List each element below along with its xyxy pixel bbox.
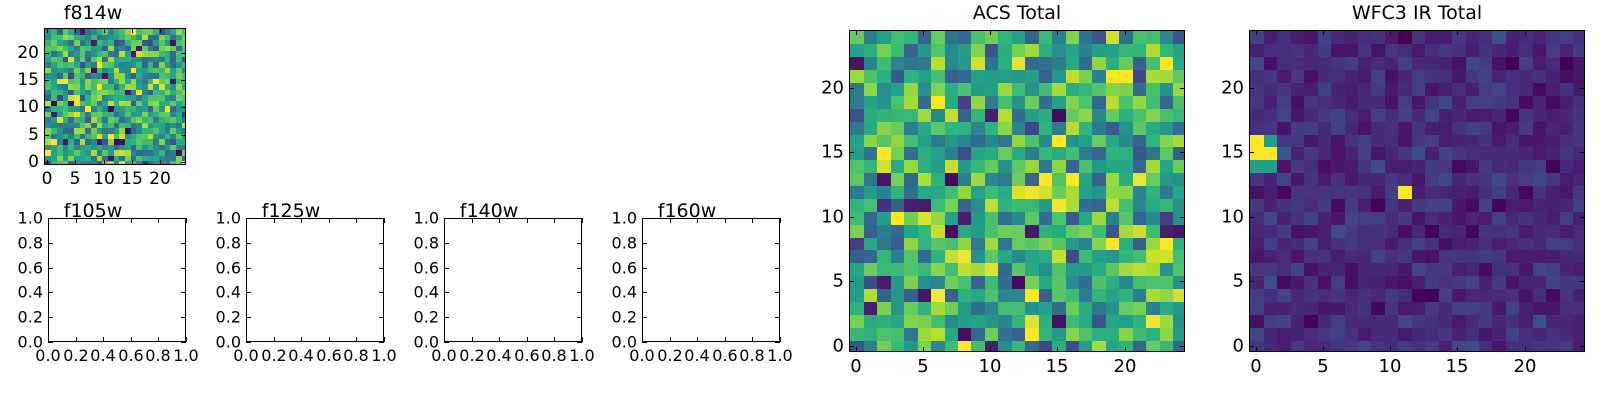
xtick-top-f814w-0: [47, 28, 48, 33]
xtick-f160w-4: [752, 337, 753, 342]
ytick-right-f140w-2: [577, 292, 582, 293]
xtick-top-f140w-5: [582, 218, 583, 223]
ytick-right-wfc3-1: [1580, 281, 1585, 282]
yticklabel-wfc3-1: 5: [1204, 271, 1244, 292]
yticklabel-acs-1: 5: [804, 271, 844, 292]
yticklabel-f160w-2: 0.4: [595, 283, 637, 302]
ytick-acs-3: [849, 152, 854, 153]
yticklabel-f105w-5: 1.0: [1, 209, 43, 228]
ytick-f814w-3: [44, 80, 49, 81]
xtick-f160w-3: [725, 337, 726, 342]
yticklabel-f140w-0: 0.0: [397, 333, 439, 352]
xtick-f140w-4: [554, 337, 555, 342]
axes-f814w[interactable]: [44, 28, 186, 165]
ytick-f160w-5: [642, 218, 647, 219]
xticklabel-f814w-0: 0: [42, 169, 53, 189]
yticklabel-wfc3-2: 10: [1204, 207, 1244, 228]
ytick-right-f814w-1: [181, 135, 186, 136]
ytick-right-f814w-2: [181, 107, 186, 108]
ytick-right-acs-3: [1180, 152, 1185, 153]
axes-wfc3-ir-total[interactable]: [1249, 30, 1585, 352]
yticklabel-f125w-3: 0.6: [199, 259, 241, 278]
ytick-f125w-3: [246, 268, 251, 269]
xtick-top-f160w-5: [780, 218, 781, 223]
ytick-f125w-2: [246, 292, 251, 293]
ytick-right-f160w-5: [775, 218, 780, 219]
xtick-top-acs-1: [923, 30, 924, 35]
ytick-right-f125w-1: [379, 317, 384, 318]
ytick-acs-0: [849, 346, 854, 347]
yticklabel-f814w-0: 0: [1, 152, 39, 172]
ytick-f160w-3: [642, 268, 647, 269]
ytick-right-f160w-3: [775, 268, 780, 269]
ytick-f140w-2: [444, 292, 449, 293]
xtick-top-f160w-3: [725, 218, 726, 223]
xtick-f105w-3: [131, 337, 132, 342]
yticklabel-f140w-5: 1.0: [397, 209, 439, 228]
xtick-top-f140w-2: [499, 218, 500, 223]
xticklabel-wfc3-0: 0: [1250, 356, 1261, 377]
yticklabel-f814w-1: 5: [1, 125, 39, 145]
xtick-top-wfc3-0: [1256, 30, 1257, 35]
xticklabel-wfc3-4: 20: [1514, 356, 1537, 377]
ytick-right-f140w-5: [577, 218, 582, 219]
yticklabel-f814w-4: 20: [1, 43, 39, 63]
panel-title-wfc3-ir-total: WFC3 IR Total: [1249, 2, 1585, 24]
xticklabel-f105w-3: 0.6: [118, 346, 143, 365]
yticklabel-f140w-3: 0.6: [397, 259, 439, 278]
xtick-top-wfc3-3: [1457, 30, 1458, 35]
ytick-f814w-2: [44, 107, 49, 108]
ytick-f105w-4: [48, 243, 53, 244]
ytick-f160w-2: [642, 292, 647, 293]
xtick-f814w-1: [75, 160, 76, 165]
yticklabel-f125w-2: 0.4: [199, 283, 241, 302]
yticklabel-f140w-2: 0.4: [397, 283, 439, 302]
xticklabel-f105w-2: 0.4: [90, 346, 115, 365]
xticklabel-wfc3-3: 15: [1446, 356, 1469, 377]
ytick-right-f125w-5: [379, 218, 384, 219]
xtick-top-acs-2: [990, 30, 991, 35]
axes-f160w[interactable]: [642, 218, 780, 342]
xtick-acs-1: [923, 347, 924, 352]
ytick-f140w-0: [444, 342, 449, 343]
xticklabel-f814w-2: 10: [93, 169, 115, 189]
ytick-right-acs-4: [1180, 88, 1185, 89]
xtick-top-f160w-4: [752, 218, 753, 223]
ytick-right-f105w-3: [181, 268, 186, 269]
xticklabel-acs-3: 15: [1046, 356, 1069, 377]
xticklabel-wfc3-1: 5: [1317, 356, 1328, 377]
ytick-f140w-3: [444, 268, 449, 269]
yticklabel-acs-2: 10: [804, 207, 844, 228]
ytick-right-acs-2: [1180, 217, 1185, 218]
xtick-top-f140w-4: [554, 218, 555, 223]
yticklabel-acs-3: 15: [804, 142, 844, 163]
heatmap-image-wfc3-ir-total: [1250, 31, 1585, 352]
xtick-f125w-5: [384, 337, 385, 342]
yticklabel-acs-4: 20: [804, 78, 844, 99]
xtick-top-f105w-4: [158, 218, 159, 223]
ytick-right-f140w-4: [577, 243, 582, 244]
xtick-top-f105w-3: [131, 218, 132, 223]
yticklabel-f105w-4: 0.8: [1, 234, 43, 253]
xtick-top-wfc3-4: [1525, 30, 1526, 35]
xticklabel-acs-0: 0: [850, 356, 861, 377]
xticklabel-f160w-2: 0.4: [684, 346, 709, 365]
xticklabel-f125w-1: 0.2: [261, 346, 286, 365]
xtick-f125w-4: [356, 337, 357, 342]
xtick-f140w-2: [499, 337, 500, 342]
yticklabel-f105w-1: 0.2: [1, 308, 43, 327]
xticklabel-acs-2: 10: [979, 356, 1002, 377]
yticklabel-f125w-5: 1.0: [199, 209, 241, 228]
yticklabel-f105w-0: 0.0: [1, 333, 43, 352]
xtick-acs-2: [990, 347, 991, 352]
ytick-wfc3-2: [1249, 217, 1254, 218]
ytick-f814w-1: [44, 135, 49, 136]
ytick-acs-4: [849, 88, 854, 89]
ytick-f160w-4: [642, 243, 647, 244]
xtick-top-f140w-3: [527, 218, 528, 223]
yticklabel-f160w-4: 0.8: [595, 234, 637, 253]
xtick-f160w-5: [780, 337, 781, 342]
xtick-top-f125w-1: [274, 218, 275, 223]
yticklabel-wfc3-4: 20: [1204, 78, 1244, 99]
ytick-right-f160w-0: [775, 342, 780, 343]
xticklabel-f160w-4: 0.8: [739, 346, 764, 365]
ytick-right-f105w-0: [181, 342, 186, 343]
xtick-top-f814w-3: [132, 28, 133, 33]
xtick-f160w-1: [670, 337, 671, 342]
ytick-right-wfc3-3: [1580, 152, 1585, 153]
yticklabel-f105w-2: 0.4: [1, 283, 43, 302]
ytick-f140w-4: [444, 243, 449, 244]
xtick-acs-4: [1125, 347, 1126, 352]
yticklabel-wfc3-3: 15: [1204, 142, 1244, 163]
xtick-top-f105w-5: [186, 218, 187, 223]
xticklabel-f105w-4: 0.8: [145, 346, 170, 365]
ytick-f105w-5: [48, 218, 53, 219]
xtick-f160w-2: [697, 337, 698, 342]
ytick-right-f160w-4: [775, 243, 780, 244]
xticklabel-acs-1: 5: [917, 356, 928, 377]
xtick-wfc3-3: [1457, 347, 1458, 352]
xtick-wfc3-1: [1323, 347, 1324, 352]
xtick-top-f814w-2: [104, 28, 105, 33]
ytick-right-wfc3-4: [1580, 88, 1585, 89]
xtick-top-f125w-3: [329, 218, 330, 223]
xticklabel-f160w-5: 1.0: [767, 346, 792, 365]
ytick-right-f125w-3: [379, 268, 384, 269]
ytick-right-f105w-4: [181, 243, 186, 244]
ytick-right-acs-0: [1180, 346, 1185, 347]
xtick-top-f105w-1: [76, 218, 77, 223]
xtick-wfc3-2: [1390, 347, 1391, 352]
xticklabel-f140w-2: 0.4: [486, 346, 511, 365]
xtick-top-acs-4: [1125, 30, 1126, 35]
yticklabel-f140w-1: 0.2: [397, 308, 439, 327]
xtick-top-f125w-5: [384, 218, 385, 223]
xticklabel-f105w-1: 0.2: [63, 346, 88, 365]
ytick-f160w-1: [642, 317, 647, 318]
axes-f140w[interactable]: [444, 218, 582, 342]
ytick-wfc3-3: [1249, 152, 1254, 153]
axes-f105w[interactable]: [48, 218, 186, 342]
xtick-top-f105w-2: [103, 218, 104, 223]
xtick-f140w-5: [582, 337, 583, 342]
ytick-right-f105w-2: [181, 292, 186, 293]
matplotlib-figure: f814w f105w f125w f140w f160w ACS Total …: [0, 0, 1600, 400]
ytick-right-f814w-0: [181, 162, 186, 163]
xtick-f105w-1: [76, 337, 77, 342]
ytick-right-f140w-1: [577, 317, 582, 318]
ytick-f140w-1: [444, 317, 449, 318]
xticklabel-f125w-5: 1.0: [371, 346, 396, 365]
xticklabel-f814w-3: 15: [121, 169, 143, 189]
ytick-right-wfc3-0: [1580, 346, 1585, 347]
xtick-f140w-3: [527, 337, 528, 342]
xtick-f140w-1: [472, 337, 473, 342]
yticklabel-f160w-0: 0.0: [595, 333, 637, 352]
yticklabel-f160w-1: 0.2: [595, 308, 637, 327]
ytick-f160w-0: [642, 342, 647, 343]
ytick-right-f140w-3: [577, 268, 582, 269]
xtick-wfc3-0: [1256, 347, 1257, 352]
xticklabel-f140w-4: 0.8: [541, 346, 566, 365]
ytick-right-f125w-2: [379, 292, 384, 293]
heatmap-image-acs-total: [850, 31, 1185, 352]
xtick-top-f814w-4: [160, 28, 161, 33]
xticklabel-acs-4: 20: [1114, 356, 1137, 377]
ytick-acs-1: [849, 281, 854, 282]
ytick-f125w-1: [246, 317, 251, 318]
xtick-f105w-4: [158, 337, 159, 342]
axes-acs-total[interactable]: [849, 30, 1185, 352]
ytick-f105w-3: [48, 268, 53, 269]
xtick-top-f140w-1: [472, 218, 473, 223]
panel-title-f814w: f814w: [0, 2, 186, 24]
yticklabel-wfc3-0: 0: [1204, 336, 1244, 357]
ytick-f814w-4: [44, 53, 49, 54]
ytick-f140w-5: [444, 218, 449, 219]
heatmap-image-f814w: [45, 29, 186, 165]
xtick-top-wfc3-1: [1323, 30, 1324, 35]
ytick-right-f814w-4: [181, 53, 186, 54]
ytick-f814w-0: [44, 162, 49, 163]
ytick-right-f105w-5: [181, 218, 186, 219]
xtick-top-f814w-1: [75, 28, 76, 33]
xtick-acs-0: [856, 347, 857, 352]
xtick-top-f160w-1: [670, 218, 671, 223]
ytick-right-f125w-0: [379, 342, 384, 343]
ytick-wfc3-4: [1249, 88, 1254, 89]
xtick-top-f125w-2: [301, 218, 302, 223]
ytick-right-f814w-3: [181, 80, 186, 81]
yticklabel-f160w-5: 1.0: [595, 209, 637, 228]
xticklabel-f125w-2: 0.4: [288, 346, 313, 365]
xtick-f125w-3: [329, 337, 330, 342]
ytick-right-f160w-1: [775, 317, 780, 318]
xtick-f814w-4: [160, 160, 161, 165]
yticklabel-f814w-3: 15: [1, 70, 39, 90]
xtick-top-acs-0: [856, 30, 857, 35]
axes-f125w[interactable]: [246, 218, 384, 342]
yticklabel-f160w-3: 0.6: [595, 259, 637, 278]
xtick-top-wfc3-2: [1390, 30, 1391, 35]
ytick-right-f125w-4: [379, 243, 384, 244]
xticklabel-wfc3-2: 10: [1379, 356, 1402, 377]
xticklabel-f125w-3: 0.6: [316, 346, 341, 365]
xticklabel-f140w-3: 0.6: [514, 346, 539, 365]
xticklabel-f125w-4: 0.8: [343, 346, 368, 365]
ytick-f125w-4: [246, 243, 251, 244]
ytick-right-f160w-2: [775, 292, 780, 293]
xticklabel-f105w-5: 1.0: [173, 346, 198, 365]
ytick-f105w-2: [48, 292, 53, 293]
ytick-right-f105w-1: [181, 317, 186, 318]
ytick-wfc3-1: [1249, 281, 1254, 282]
ytick-right-f140w-0: [577, 342, 582, 343]
ytick-f125w-5: [246, 218, 251, 219]
yticklabel-f125w-4: 0.8: [199, 234, 241, 253]
xtick-f125w-1: [274, 337, 275, 342]
yticklabel-f125w-1: 0.2: [199, 308, 241, 327]
xticklabel-f140w-5: 1.0: [569, 346, 594, 365]
xtick-top-f125w-4: [356, 218, 357, 223]
yticklabel-f125w-0: 0.0: [199, 333, 241, 352]
xtick-f814w-2: [104, 160, 105, 165]
xtick-acs-3: [1057, 347, 1058, 352]
ytick-f125w-0: [246, 342, 251, 343]
xticklabel-f814w-1: 5: [70, 169, 81, 189]
xticklabel-f814w-4: 20: [149, 169, 171, 189]
xtick-f125w-2: [301, 337, 302, 342]
ytick-right-wfc3-2: [1580, 217, 1585, 218]
xtick-top-f160w-2: [697, 218, 698, 223]
yticklabel-f105w-3: 0.6: [1, 259, 43, 278]
panel-title-acs-total: ACS Total: [849, 2, 1185, 24]
yticklabel-f140w-4: 0.8: [397, 234, 439, 253]
xtick-top-acs-3: [1057, 30, 1058, 35]
panel-acs-total: ACS Total: [800, 0, 1200, 400]
xticklabel-f160w-3: 0.6: [712, 346, 737, 365]
ytick-acs-2: [849, 217, 854, 218]
ytick-right-acs-1: [1180, 281, 1185, 282]
ytick-f105w-1: [48, 317, 53, 318]
ytick-f105w-0: [48, 342, 53, 343]
xtick-f814w-3: [132, 160, 133, 165]
xtick-wfc3-4: [1525, 347, 1526, 352]
panel-wfc3-ir-total: WFC3 IR Total: [1190, 0, 1600, 400]
yticklabel-acs-0: 0: [804, 336, 844, 357]
xticklabel-f160w-1: 0.2: [657, 346, 682, 365]
xticklabel-f140w-1: 0.2: [459, 346, 484, 365]
yticklabel-f814w-2: 10: [1, 97, 39, 117]
xtick-f105w-2: [103, 337, 104, 342]
xtick-f105w-5: [186, 337, 187, 342]
ytick-wfc3-0: [1249, 346, 1254, 347]
